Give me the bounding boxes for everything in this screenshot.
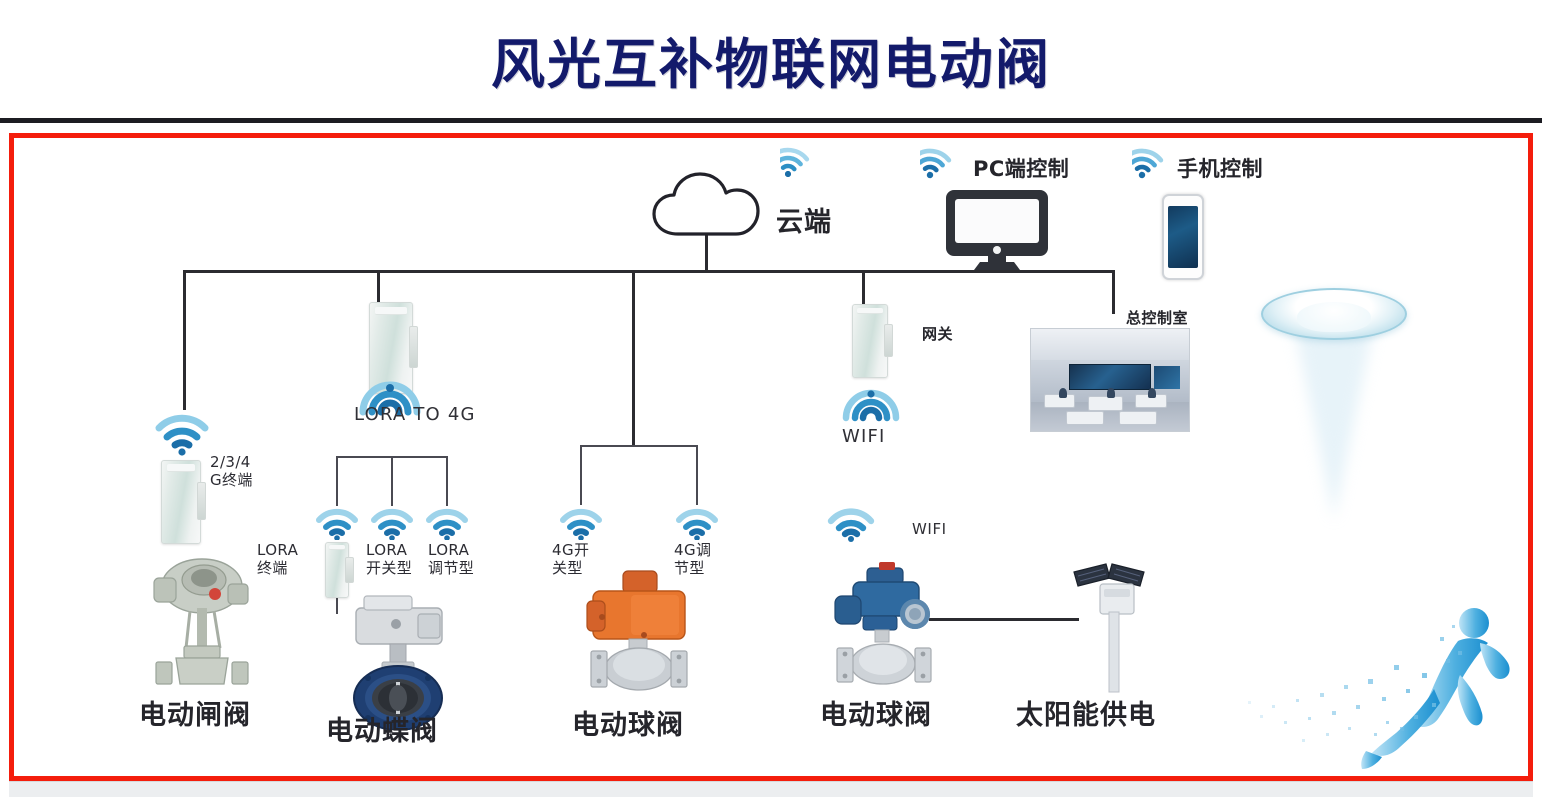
bottom-strip	[9, 781, 1533, 797]
device-cap	[329, 545, 346, 550]
solar-power-label: 太阳能供电	[1016, 700, 1156, 732]
diagram-frame: 云端	[9, 133, 1533, 781]
electric-butterfly-valve	[334, 590, 464, 735]
connector-4g-drop-1	[580, 445, 582, 505]
connector-lora-drop-3	[446, 456, 448, 506]
lora-regulating-wifi-icon	[425, 504, 469, 540]
title-divider	[0, 118, 1542, 123]
control-room-ceiling	[1031, 329, 1189, 360]
connector-4g-bar	[580, 445, 696, 447]
lora-to-4g-label: LORA TO 4G	[354, 404, 476, 425]
connector-drop-control-room	[1112, 270, 1115, 314]
device-cap	[857, 308, 883, 314]
gateway-wifi-icon	[842, 384, 900, 428]
ufo-beam-graphic	[1234, 278, 1434, 538]
control-room-side-screen	[1154, 366, 1179, 389]
connector-cloud-stem	[705, 234, 708, 272]
cellular-terminal-device	[161, 460, 201, 544]
diagram-canvas: 云端	[14, 138, 1528, 776]
electric-ball-valve-orange	[569, 565, 709, 702]
lora-regulating-label: LORA 调节型	[428, 542, 490, 577]
control-room-photo	[1030, 328, 1190, 432]
cloud-icon	[650, 168, 762, 238]
lora-terminal-wifi-icon	[315, 504, 359, 540]
cellular-wifi-icon	[153, 408, 211, 456]
solar-panel-pole	[1066, 556, 1156, 701]
phone-screen	[1168, 206, 1198, 268]
device-cap	[375, 307, 407, 315]
4g-regulating-wifi-icon	[675, 504, 719, 540]
connector-lora-drop-2	[391, 456, 393, 506]
connector-drop-wifi-gateway	[862, 270, 865, 304]
pc-control-label: PC端控制	[973, 157, 1069, 182]
ufo-dome	[1297, 302, 1371, 332]
lora-terminal-label: LORA 终端	[257, 542, 317, 577]
control-room-person	[1059, 388, 1067, 398]
connector-drop-lora-gateway	[377, 270, 380, 302]
lora-switch-wifi-icon	[370, 504, 414, 540]
phone-icon	[1162, 194, 1204, 280]
running-man-particle-graphic	[1236, 593, 1526, 778]
control-room-label: 总控制室	[1126, 310, 1188, 328]
ball-valve-blue-label: 电动球阀	[820, 700, 932, 732]
phone-control-label: 手机控制	[1177, 157, 1263, 182]
ball-valve-wifi-icon	[827, 504, 875, 542]
butterfly-valve-label: 电动蝶阀	[326, 716, 438, 748]
electric-gate-valve	[142, 556, 262, 696]
title-bar: 风光互补物联网电动阀	[0, 0, 1542, 118]
connector-4g-drop-2	[696, 445, 698, 505]
device-cap	[167, 464, 196, 471]
page-title: 风光互补物联网电动阀	[491, 20, 1051, 99]
control-room-main-screen	[1069, 364, 1151, 391]
4g-switch-wifi-icon	[559, 504, 603, 540]
cloud-wifi-icon	[780, 144, 818, 182]
cellular-terminal-label: 2/3/4 G终端	[210, 454, 280, 489]
wifi-gateway-device	[852, 304, 888, 378]
ufo-beam	[1294, 324, 1374, 520]
lora-switch-label: LORA 开关型	[366, 542, 428, 577]
gate-valve-label: 电动闸阀	[139, 700, 251, 732]
phone-wifi-icon	[1132, 143, 1172, 183]
control-room-person	[1148, 388, 1156, 398]
cloud-label: 云端	[776, 207, 832, 239]
pc-wifi-icon	[920, 143, 960, 183]
connector-drop-cellular	[183, 270, 186, 410]
ball-valve-orange-label: 电动球阀	[572, 710, 684, 742]
ball-valve-wifi-label: WIFI	[912, 521, 947, 539]
slide-page: 风光互补物联网电动阀	[0, 0, 1542, 809]
control-room-person	[1107, 388, 1115, 398]
control-room-desk	[1088, 396, 1123, 410]
control-room-desk	[1119, 411, 1157, 425]
gateway-wifi-label: WIFI	[842, 426, 886, 447]
connector-lora-drop-1	[336, 456, 338, 506]
connector-drop-4g-trunk	[632, 270, 635, 445]
electric-ball-valve-blue	[819, 558, 959, 701]
control-room-desk	[1066, 411, 1104, 425]
monitor-icon	[944, 188, 1050, 277]
gateway-label: 网关	[922, 326, 953, 344]
